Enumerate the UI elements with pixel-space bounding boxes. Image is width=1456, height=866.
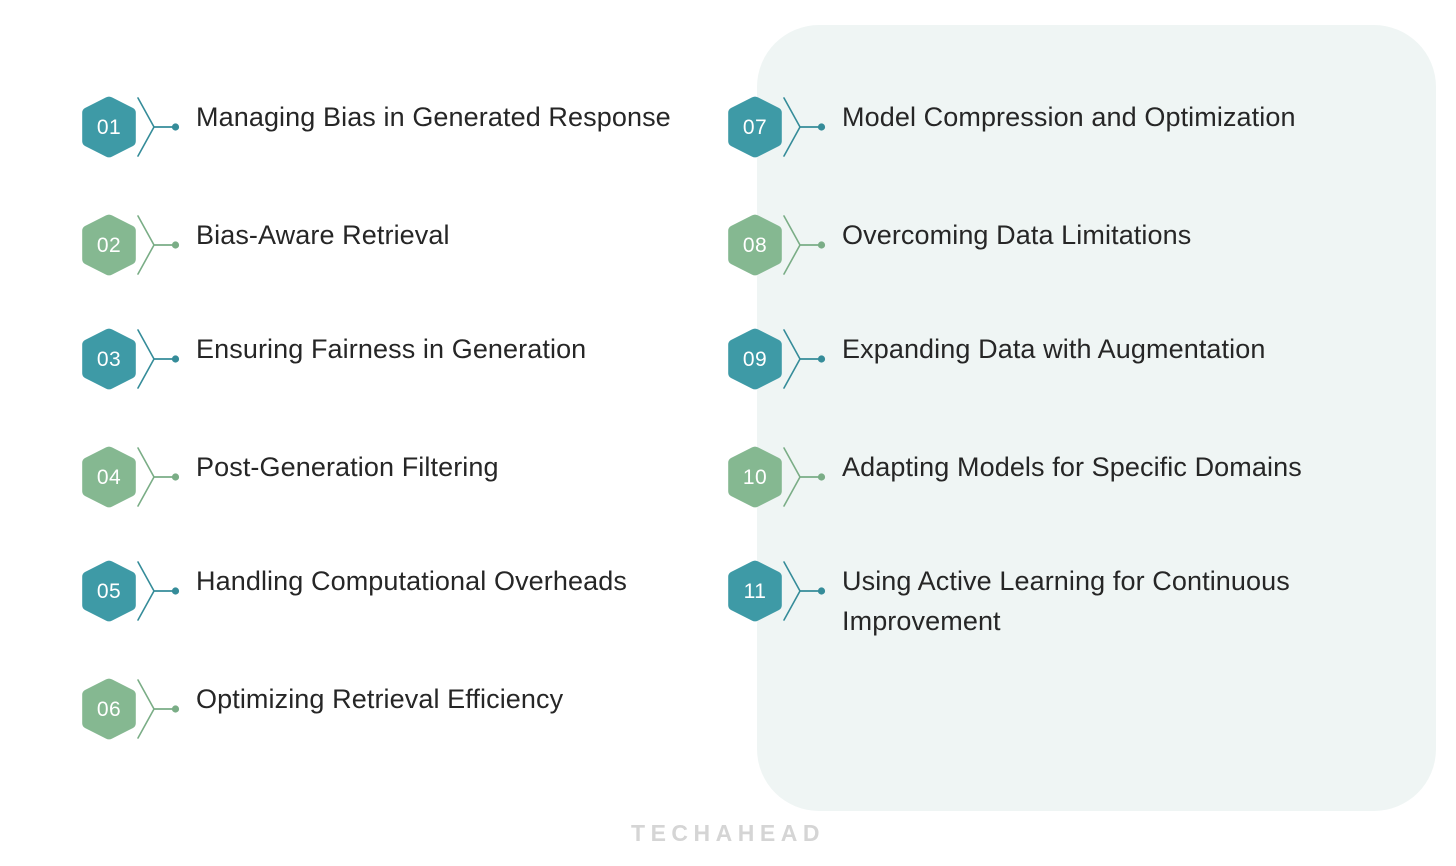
- hexagon-number-badge: 08: [724, 214, 842, 276]
- hexagon-number-badge: 04: [78, 446, 196, 508]
- item-label: Post-Generation Filtering: [196, 447, 499, 487]
- hexagon-number-badge: 05: [78, 560, 196, 622]
- infographic-canvas: 01Managing Bias in Generated Response02B…: [0, 0, 1456, 866]
- item-label: Overcoming Data Limitations: [842, 215, 1191, 255]
- list-item[interactable]: 05Handling Computational Overheads: [78, 560, 627, 622]
- hexagon-number-badge: 07: [724, 96, 842, 158]
- list-item[interactable]: 03Ensuring Fairness in Generation: [78, 328, 586, 390]
- hexagon-number-badge: 09: [724, 328, 842, 390]
- hexagon-number-badge: 01: [78, 96, 196, 158]
- item-label: Adapting Models for Specific Domains: [842, 447, 1302, 487]
- list-item[interactable]: 11Using Active Learning for Continuous I…: [724, 560, 1362, 622]
- list-item[interactable]: 04Post-Generation Filtering: [78, 446, 499, 508]
- item-label: Optimizing Retrieval Efficiency: [196, 679, 563, 719]
- item-label: Expanding Data with Augmentation: [842, 329, 1265, 369]
- hexagon-number-badge: 11: [724, 560, 842, 622]
- list-item[interactable]: 02Bias-Aware Retrieval: [78, 214, 450, 276]
- list-item[interactable]: 07Model Compression and Optimization: [724, 96, 1296, 158]
- item-label: Ensuring Fairness in Generation: [196, 329, 586, 369]
- techahead-watermark: TECHAHEAD: [0, 820, 1456, 847]
- hexagon-number-badge: 02: [78, 214, 196, 276]
- list-item[interactable]: 09Expanding Data with Augmentation: [724, 328, 1265, 390]
- list-item[interactable]: 10Adapting Models for Specific Domains: [724, 446, 1302, 508]
- item-label: Handling Computational Overheads: [196, 561, 627, 601]
- item-label: Managing Bias in Generated Response: [196, 97, 671, 137]
- item-label: Using Active Learning for Continuous Imp…: [842, 561, 1362, 641]
- item-label: Model Compression and Optimization: [842, 97, 1296, 137]
- item-label: Bias-Aware Retrieval: [196, 215, 450, 255]
- hexagon-number-badge: 10: [724, 446, 842, 508]
- hexagon-number-badge: 06: [78, 678, 196, 740]
- hexagon-number-badge: 03: [78, 328, 196, 390]
- list-item[interactable]: 06Optimizing Retrieval Efficiency: [78, 678, 563, 740]
- list-item[interactable]: 08Overcoming Data Limitations: [724, 214, 1191, 276]
- list-item[interactable]: 01Managing Bias in Generated Response: [78, 96, 671, 158]
